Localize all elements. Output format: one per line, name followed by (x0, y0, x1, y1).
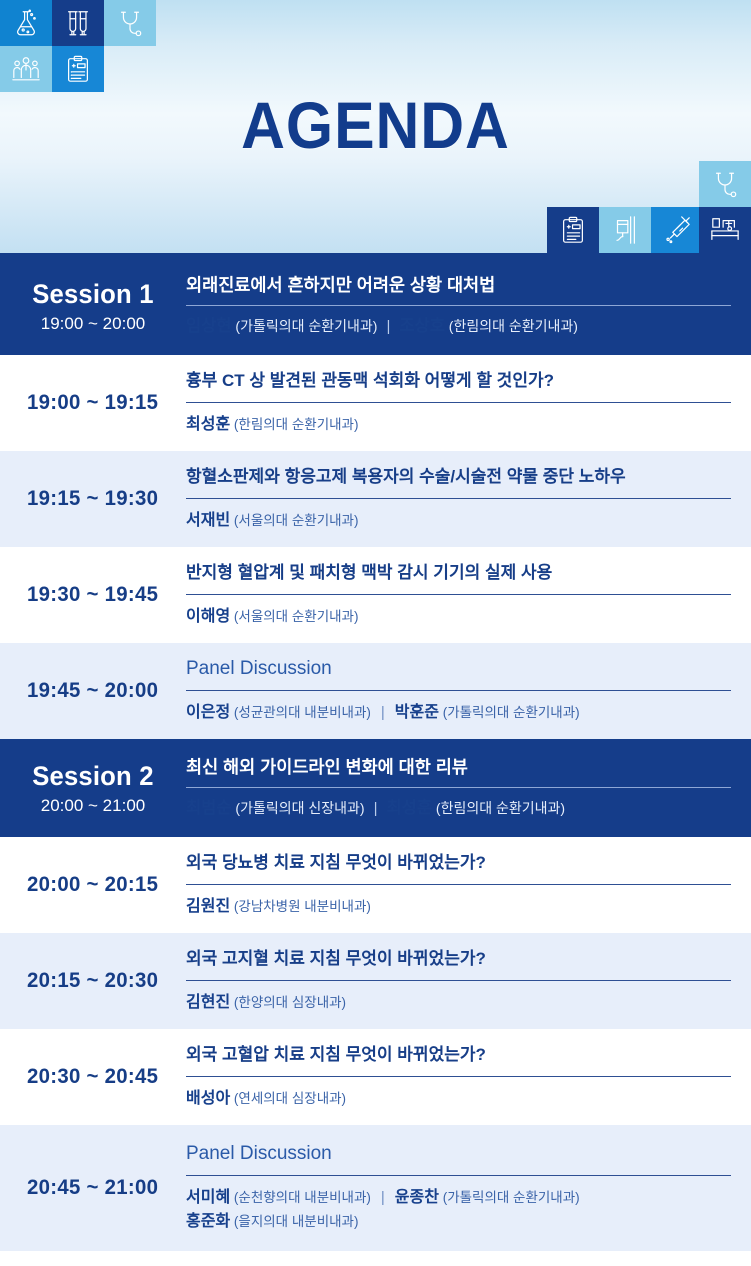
time-slot: 19:45 ~ 20:00 (27, 679, 158, 703)
speaker-name: 임상현 (186, 317, 232, 335)
session-time-range: 20:00 ~ 21:00 (41, 796, 145, 816)
agenda-row: 19:15 ~ 19:30항혈소판제와 항응고제 복용자의 수술/시술전 약물 … (0, 451, 751, 547)
clipboard-icon (52, 46, 104, 92)
time-column: Session 119:00 ~ 20:00 (0, 257, 186, 355)
speaker-affiliation: (한림의대 순환기내과) (432, 800, 565, 816)
time-slot: 19:00 ~ 19:15 (27, 391, 158, 415)
speaker-list: 김원진 (강남차병원 내분비내과) (186, 885, 731, 919)
time-slot: 20:45 ~ 21:00 (27, 1176, 158, 1200)
speaker-line: 김원진 (강남차병원 내분비내과) (186, 895, 731, 919)
speaker-affiliation: (한림의대 순환기내과) (445, 318, 578, 334)
speaker-affiliation: (강남차병원 내분비내과) (230, 899, 371, 914)
session-body: 반지형 혈압계 및 패치형 맥박 감시 기기의 실제 사용이해영 (서울의대 순… (186, 547, 751, 643)
speaker-name: 이해영 (186, 608, 230, 625)
session-header-row: Session 119:00 ~ 20:00외래진료에서 흔하지만 어려운 상황… (0, 257, 751, 355)
topic-title: 외래진료에서 흔하지만 어려운 상황 대처법 (186, 274, 731, 305)
topic-title: 흉부 CT 상 발견된 관동맥 석회화 어떻게 할 것인가? (186, 370, 731, 402)
time-column: Session 220:00 ~ 21:00 (0, 739, 186, 837)
speaker-name: 최범순 (186, 799, 232, 817)
time-column: 19:15 ~ 19:30 (0, 451, 186, 547)
speaker-list: 최범순 (가톨릭의대 신장내과)|최성훈 (한림의대 순환기내과) (186, 788, 731, 820)
speaker-separator: | (377, 318, 399, 335)
session-body: 외국 고지혈 치료 지침 무엇이 바뀌었는가?김현진 (한양의대 심장내과) (186, 933, 751, 1029)
page-title: AGENDA (30, 92, 721, 158)
time-column: 20:30 ~ 20:45 (0, 1029, 186, 1125)
speaker-list: 서재빈 (서울의대 순환기내과) (186, 499, 731, 533)
speaker-line: 홍준화 (을지의대 내분비내과) (186, 1210, 731, 1234)
session-time-range: 19:00 ~ 20:00 (41, 314, 145, 334)
session-body: Panel Discussion이은정 (성균관의대 내분비내과)|박훈준 (가… (186, 643, 751, 739)
speaker-affiliation: (서울의대 순환기내과) (230, 609, 358, 624)
speaker-name: 윤종찬 (395, 1189, 439, 1206)
speaker-name: 김현진 (186, 994, 230, 1011)
speaker-name: 최성훈 (186, 416, 230, 433)
test-tubes-icon (52, 0, 104, 46)
speaker-separator: | (371, 1189, 395, 1206)
speaker-list: 김현진 (한양의대 심장내과) (186, 981, 731, 1015)
speaker-affiliation: (성균관의대 내분비내과) (230, 705, 371, 720)
time-slot: 19:30 ~ 19:45 (27, 583, 158, 607)
session-body: 외국 고혈압 치료 지침 무엇이 바뀌었는가?배성아 (연세의대 심장내과) (186, 1029, 751, 1125)
time-column: 20:15 ~ 20:30 (0, 933, 186, 1029)
time-column: 20:45 ~ 21:00 (0, 1125, 186, 1251)
topic-title: 항혈소판제와 항응고제 복용자의 수술/시술전 약물 중단 노하우 (186, 466, 731, 498)
clipboard-icon (547, 207, 599, 253)
speaker-list: 최성훈 (한림의대 순환기내과) (186, 403, 731, 437)
speaker-affiliation: (순천향의대 내분비내과) (230, 1190, 371, 1205)
speaker-list: 서미혜 (순천향의대 내분비내과)|윤종찬 (가톨릭의대 순환기내과)홍준화 (… (186, 1176, 731, 1234)
speaker-list: 배성아 (연세의대 심장내과) (186, 1077, 731, 1111)
speaker-affiliation: (을지의대 내분비내과) (230, 1214, 358, 1229)
hospital-bed-icon (699, 207, 751, 253)
time-slot: 20:30 ~ 20:45 (27, 1065, 158, 1089)
speaker-list: 이은정 (성균관의대 내분비내과)|박훈준 (가톨릭의대 순환기내과) (186, 691, 731, 725)
session-header-row: Session 220:00 ~ 21:00최신 해외 가이드라인 변화에 대한… (0, 739, 751, 837)
speaker-affiliation: (한양의대 심장내과) (230, 995, 346, 1010)
topic-title: 외국 당뇨병 치료 지침 무엇이 바뀌었는가? (186, 852, 731, 884)
speaker-affiliation: (서울의대 순환기내과) (230, 513, 358, 528)
medical-team-icon (0, 46, 52, 92)
speaker-line: 이은정 (성균관의대 내분비내과)|박훈준 (가톨릭의대 순환기내과) (186, 701, 731, 725)
session-label: Session 2 (32, 761, 153, 791)
time-slot: 20:00 ~ 20:15 (27, 873, 158, 897)
speaker-name: 홍준화 (186, 1213, 230, 1230)
speaker-affiliation: (가톨릭의대 순환기내과) (439, 1190, 580, 1205)
speaker-line: 최성훈 (한림의대 순환기내과) (186, 413, 731, 437)
time-slot: 20:15 ~ 20:30 (27, 969, 158, 993)
agenda-row: 20:30 ~ 20:45외국 고혈압 치료 지침 무엇이 바뀌었는가?배성아 … (0, 1029, 751, 1125)
speaker-name: 이은정 (186, 704, 230, 721)
flask-icon (0, 0, 52, 46)
speaker-name: 최성훈 (386, 799, 432, 817)
agenda-row: 19:00 ~ 19:15흉부 CT 상 발견된 관동맥 석회화 어떻게 할 것… (0, 355, 751, 451)
agenda-row: 20:45 ~ 21:00Panel Discussion서미혜 (순천향의대 … (0, 1125, 751, 1251)
speaker-affiliation: (연세의대 심장내과) (230, 1091, 346, 1106)
speaker-affiliation: (가톨릭의대 순환기내과) (439, 705, 580, 720)
topic-title: Panel Discussion (186, 1143, 731, 1175)
agenda-row: 20:15 ~ 20:30외국 고지혈 치료 지침 무엇이 바뀌었는가?김현진 … (0, 933, 751, 1029)
agenda-row: 19:30 ~ 19:45반지형 혈압계 및 패치형 맥박 감시 기기의 실제 … (0, 547, 751, 643)
time-column: 20:00 ~ 20:15 (0, 837, 186, 933)
session-body: 항혈소판제와 항응고제 복용자의 수술/시술전 약물 중단 노하우서재빈 (서울… (186, 451, 751, 547)
speaker-name: 박훈준 (395, 704, 439, 721)
speaker-name: 김원진 (186, 898, 230, 915)
speaker-line: 서미혜 (순천향의대 내분비내과)|윤종찬 (가톨릭의대 순환기내과) (186, 1186, 731, 1210)
speaker-name: 조상호 (399, 317, 445, 335)
speaker-line: 서재빈 (서울의대 순환기내과) (186, 509, 731, 533)
agenda-table: Session 119:00 ~ 20:00외래진료에서 흔하지만 어려운 상황… (0, 257, 751, 1251)
speaker-line: 이해영 (서울의대 순환기내과) (186, 605, 731, 629)
speaker-list: 임상현 (가톨릭의대 순환기내과)|조상호 (한림의대 순환기내과) (186, 306, 731, 338)
speaker-separator: | (365, 800, 387, 817)
speaker-affiliation: (가톨릭의대 순환기내과) (232, 318, 378, 334)
agenda-poster: AGENDA (0, 0, 751, 1266)
speaker-line: 김현진 (한양의대 심장내과) (186, 991, 731, 1015)
topic-title: Panel Discussion (186, 658, 731, 690)
stethoscope-icon (699, 161, 751, 207)
session-label: Session 1 (32, 279, 153, 309)
session-body: 흉부 CT 상 발견된 관동맥 석회화 어떻게 할 것인가?최성훈 (한림의대 … (186, 355, 751, 451)
iv-drip-icon (599, 207, 651, 253)
session-body: 외래진료에서 흔하지만 어려운 상황 대처법임상현 (가톨릭의대 순환기내과)|… (186, 257, 751, 355)
syringe-icon (651, 207, 703, 253)
topic-title: 외국 고혈압 치료 지침 무엇이 바뀌었는가? (186, 1044, 731, 1076)
agenda-row: 20:00 ~ 20:15외국 당뇨병 치료 지침 무엇이 바뀌었는가?김원진 … (0, 837, 751, 933)
time-column: 19:30 ~ 19:45 (0, 547, 186, 643)
speaker-name: 배성아 (186, 1090, 230, 1107)
time-column: 19:45 ~ 20:00 (0, 643, 186, 739)
speaker-affiliation: (가톨릭의대 신장내과) (232, 800, 365, 816)
speaker-line: 최범순 (가톨릭의대 신장내과)|최성훈 (한림의대 순환기내과) (186, 797, 731, 820)
time-slot: 19:15 ~ 19:30 (27, 487, 158, 511)
speaker-name: 서재빈 (186, 512, 230, 529)
topic-title: 최신 해외 가이드라인 변화에 대한 리뷰 (186, 756, 731, 787)
session-body: 최신 해외 가이드라인 변화에 대한 리뷰최범순 (가톨릭의대 신장내과)|최성… (186, 739, 751, 837)
speaker-affiliation: (한림의대 순환기내과) (230, 417, 358, 432)
time-column: 19:00 ~ 19:15 (0, 355, 186, 451)
stethoscope-icon (104, 0, 156, 46)
speaker-name: 서미혜 (186, 1189, 230, 1206)
speaker-list: 이해영 (서울의대 순환기내과) (186, 595, 731, 629)
session-body: Panel Discussion서미혜 (순천향의대 내분비내과)|윤종찬 (가… (186, 1125, 751, 1251)
poster-header: AGENDA (0, 0, 751, 253)
topic-title: 외국 고지혈 치료 지침 무엇이 바뀌었는가? (186, 948, 731, 980)
speaker-separator: | (371, 704, 395, 721)
session-body: 외국 당뇨병 치료 지침 무엇이 바뀌었는가?김원진 (강남차병원 내분비내과) (186, 837, 751, 933)
speaker-line: 임상현 (가톨릭의대 순환기내과)|조상호 (한림의대 순환기내과) (186, 315, 731, 338)
agenda-row: 19:45 ~ 20:00Panel Discussion이은정 (성균관의대 … (0, 643, 751, 739)
topic-title: 반지형 혈압계 및 패치형 맥박 감시 기기의 실제 사용 (186, 562, 731, 594)
speaker-line: 배성아 (연세의대 심장내과) (186, 1087, 731, 1111)
